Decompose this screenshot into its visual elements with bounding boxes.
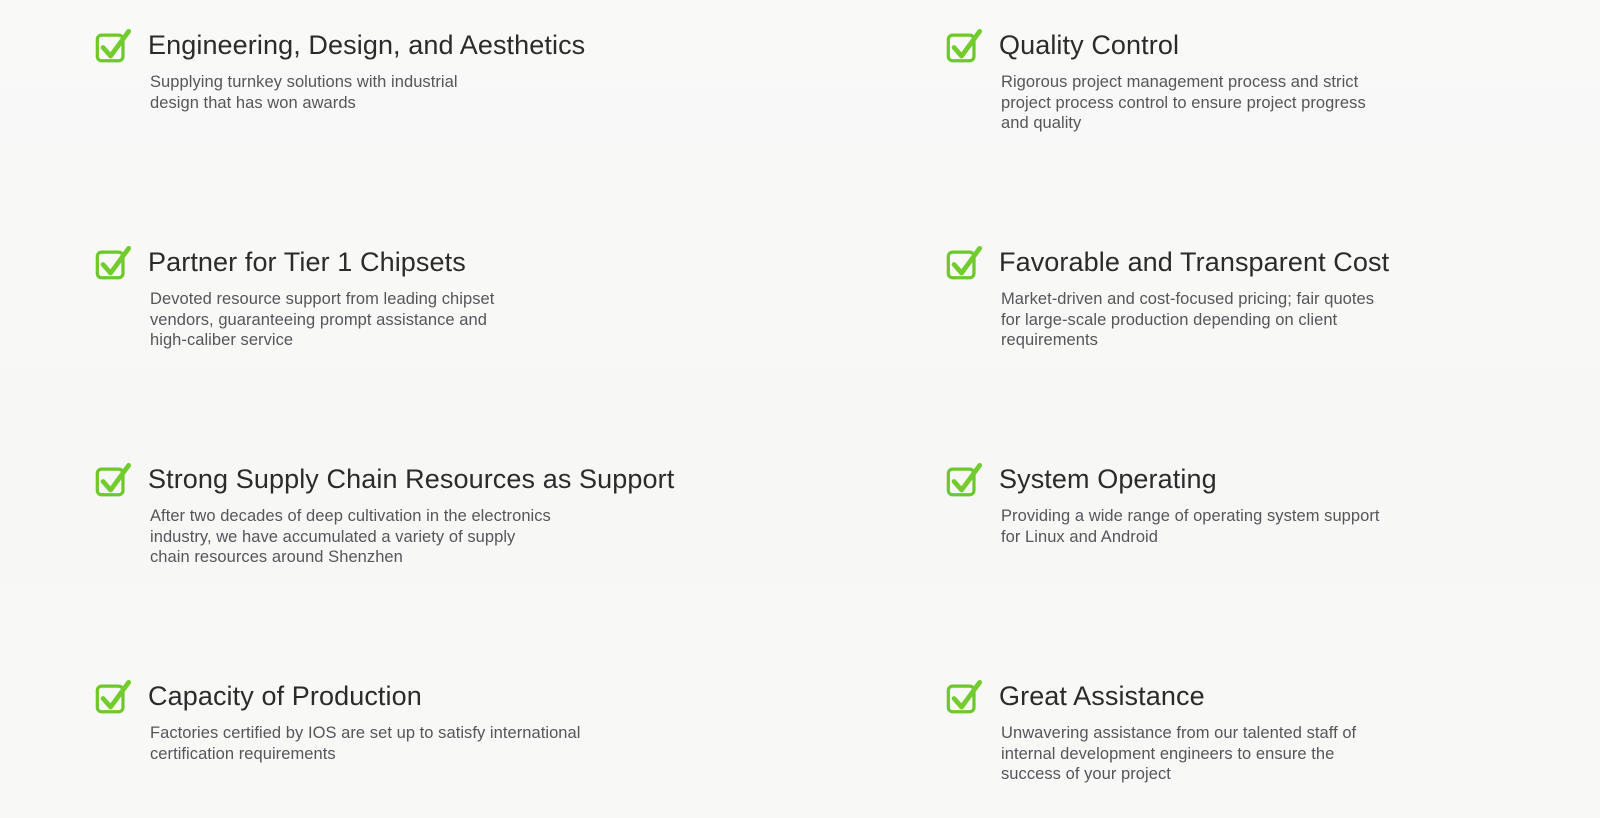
feature-description: Devoted resource support from leading ch… xyxy=(94,289,812,351)
feature-description: After two decades of deep cultivation in… xyxy=(94,506,812,568)
feature-card-partner-for-tier-1-chipsets[interactable]: Partner for Tier 1 Chipsets Devoted reso… xyxy=(0,217,852,434)
feature-card-great-assistance[interactable]: Great Assistance Unwavering assistance f… xyxy=(852,651,1600,818)
feature-title: Capacity of Production xyxy=(94,679,812,713)
feature-description: Providing a wide range of operating syst… xyxy=(945,506,1568,547)
feature-card-favorable-and-transparent-cost[interactable]: Favorable and Transparent Cost Market-dr… xyxy=(852,217,1600,434)
feature-title: Great Assistance xyxy=(945,679,1568,713)
features-grid: Engineering, Design, and Aesthetics Supp… xyxy=(0,0,1600,818)
feature-description: Supplying turnkey solutions with industr… xyxy=(94,72,812,113)
feature-card-capacity-of-production[interactable]: Capacity of Production Factories certifi… xyxy=(0,651,852,818)
features-board: Engineering, Design, and Aesthetics Supp… xyxy=(0,0,1600,818)
feature-title: System Operating xyxy=(945,462,1568,496)
feature-card-system-operating[interactable]: System Operating Providing a wide range … xyxy=(852,434,1600,651)
feature-title: Strong Supply Chain Resources as Support xyxy=(94,462,812,496)
feature-title: Partner for Tier 1 Chipsets xyxy=(94,245,812,279)
feature-description: Unwavering assistance from our talented … xyxy=(945,723,1568,785)
feature-header: Partner for Tier 1 Chipsets xyxy=(94,245,812,283)
feature-header: Capacity of Production xyxy=(94,679,812,717)
check-square-icon xyxy=(945,679,983,717)
check-square-icon xyxy=(94,679,132,717)
feature-header: Strong Supply Chain Resources as Support xyxy=(94,462,812,500)
feature-card-quality-control[interactable]: Quality Control Rigorous project managem… xyxy=(852,0,1600,217)
feature-description: Factories certified by IOS are set up to… xyxy=(94,723,812,764)
check-square-icon xyxy=(94,462,132,500)
feature-card-engineering-design-aesthetics[interactable]: Engineering, Design, and Aesthetics Supp… xyxy=(0,0,852,217)
check-square-icon xyxy=(94,245,132,283)
feature-description: Rigorous project management process and … xyxy=(945,72,1568,134)
feature-header: Favorable and Transparent Cost xyxy=(945,245,1568,283)
feature-header: Engineering, Design, and Aesthetics xyxy=(94,28,812,66)
feature-title: Engineering, Design, and Aesthetics xyxy=(94,28,812,62)
check-square-icon xyxy=(945,462,983,500)
check-square-icon xyxy=(945,245,983,283)
feature-title: Favorable and Transparent Cost xyxy=(945,245,1568,279)
feature-title: Quality Control xyxy=(945,28,1568,62)
check-square-icon xyxy=(94,28,132,66)
check-square-icon xyxy=(945,28,983,66)
feature-header: System Operating xyxy=(945,462,1568,500)
feature-card-strong-supply-chain-resources-as-support[interactable]: Strong Supply Chain Resources as Support… xyxy=(0,434,852,651)
feature-header: Great Assistance xyxy=(945,679,1568,717)
feature-header: Quality Control xyxy=(945,28,1568,66)
feature-description: Market-driven and cost-focused pricing; … xyxy=(945,289,1568,351)
